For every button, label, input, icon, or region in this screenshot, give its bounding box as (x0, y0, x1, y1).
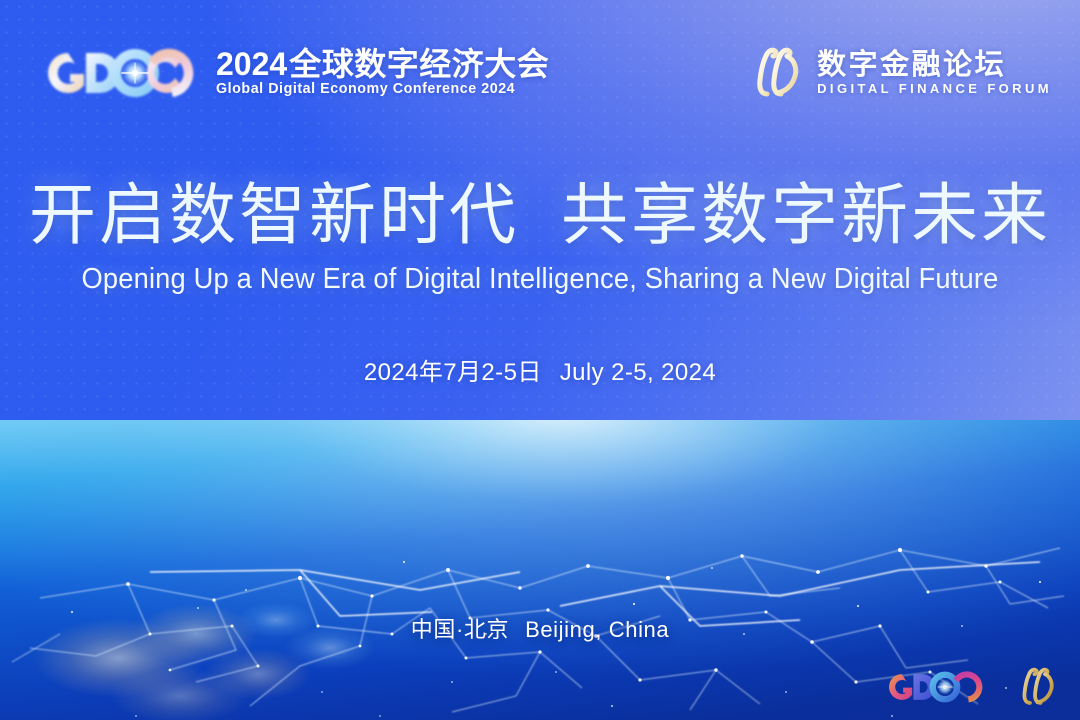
event-title-cn: 2024全球数字经济大会 (216, 48, 549, 81)
headline-cn-part2: 共享数字新未来 (561, 178, 1051, 253)
footer-logo-group (880, 666, 1058, 708)
event-title-en: Global Digital Economy Conference 2024 (216, 82, 544, 98)
conference-backdrop: 2024全球数字经济大会 Global Digital Economy Conf… (0, 0, 1080, 720)
event-brand-lockup: 2024全球数字经济大会 Global Digital Economy Conf… (34, 44, 549, 102)
header: 2024全球数字经济大会 Global Digital Economy Conf… (0, 0, 1080, 130)
headline-cn: 开启数智新时代共享数字新未来 (0, 178, 1080, 254)
location-line: 中国·北京Beijing, China (0, 612, 1080, 644)
partner-name-cn: 数字金融论坛 (817, 50, 1052, 80)
gdec-logo-icon (34, 44, 202, 102)
event-title-year: 2024 (216, 46, 287, 82)
headline-en: Opening Up a New Era of Digital Intellig… (32, 262, 1047, 297)
hero-section: 开启数智新时代共享数字新未来 Opening Up a New Era of D… (0, 178, 1080, 387)
partner-name-en: DIGITAL FINANCE FORUM (817, 82, 1052, 96)
location-city-en: Beijing, China (525, 617, 669, 642)
partner-brand-lockup: 数字金融论坛 DIGITAL FINANCE FORUM (746, 46, 1052, 100)
event-dateline: 2024年7月2-5日July 2-5, 2024 (0, 352, 1080, 387)
ff-monogram-icon (746, 46, 804, 100)
ff-monogram-gold-icon (1014, 666, 1058, 708)
gdec-logo-color-icon (880, 667, 988, 707)
partner-brand-text: 数字金融论坛 DIGITAL FINANCE FORUM (817, 50, 1052, 97)
event-brand-text: 2024全球数字经济大会 Global Digital Economy Conf… (216, 48, 549, 98)
event-title-cn-rest: 全球数字经济大会 (289, 46, 549, 82)
date-en: July 2-5, 2024 (560, 359, 716, 386)
date-cn: 2024年7月2-5日 (364, 359, 542, 386)
location-city-cn: 中国·北京 (411, 617, 509, 642)
headline-cn-part1: 开启数智新时代 (29, 178, 519, 253)
